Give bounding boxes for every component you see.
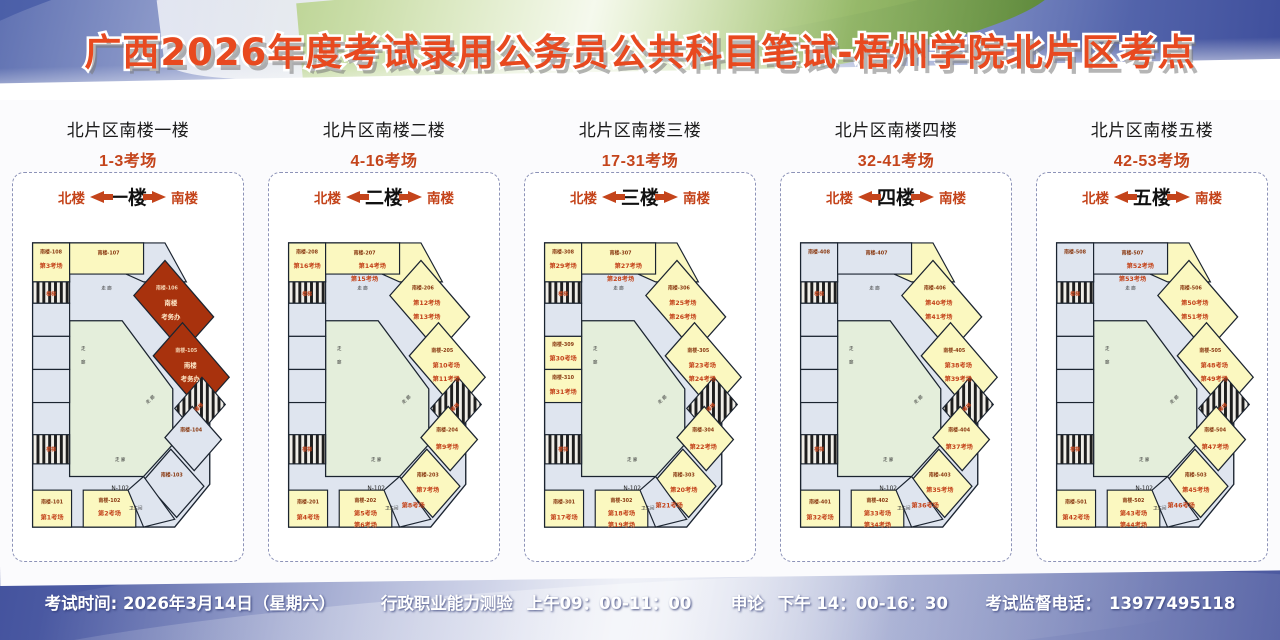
- svg-text:第6考场: 第6考场: [353, 521, 377, 529]
- floor-plan-box-4: 北楼 四楼 南楼 南楼-408楼梯楼梯走廊走 廊走 廊走 廊N-102卫生间南楼…: [780, 172, 1012, 562]
- svg-text:南楼-504: 南楼-504: [1204, 427, 1226, 434]
- svg-text:楼梯: 楼梯: [1070, 290, 1080, 297]
- svg-text:楼梯: 楼梯: [46, 290, 56, 297]
- south-building-label: 南楼: [427, 187, 454, 207]
- svg-text:南楼-201: 南楼-201: [297, 499, 319, 506]
- svg-text:南楼-506: 南楼-506: [1180, 285, 1202, 292]
- floor-plan-box-5: 北楼 五楼 南楼 南楼-508楼梯楼梯走廊走 廊走 廊走 廊N-102卫生间南楼…: [1036, 172, 1268, 562]
- svg-text:第34考场: 第34考场: [863, 521, 891, 529]
- arrow-left-icon: [858, 191, 872, 203]
- floor-plan-box-2: 北楼 二楼 南楼 南楼-208第16考场楼梯楼梯走廊走 廊走 廊走 廊N-102…: [268, 172, 500, 562]
- svg-text:第53考场: 第53考场: [1118, 275, 1146, 283]
- floor-plan-svg-1: 南楼-108第3考场楼梯楼梯走廊走 廊走 廊走 廊N-102卫生间南楼-101第…: [19, 217, 237, 555]
- svg-text:第19考场: 第19考场: [607, 521, 635, 529]
- floor-plan-box-1: 北楼 一楼 南楼 南楼-108第3考场楼梯楼梯走廊走 廊走 廊走 廊N-102卫…: [12, 172, 244, 562]
- direction-row-2: 北楼 二楼 南楼: [269, 183, 499, 210]
- svg-text:南楼-304: 南楼-304: [692, 427, 714, 434]
- svg-text:南楼-106: 南楼-106: [156, 285, 178, 292]
- svg-text:第43考场: 第43考场: [1119, 509, 1147, 517]
- svg-text:南楼-207: 南楼-207: [354, 250, 376, 257]
- footer-supervise-phone: 13977495118: [1109, 594, 1235, 613]
- footer-info: 考试时间: 2026年3月14日（星期六） 行政职业能力测验 上午09：00-1…: [0, 590, 1280, 614]
- floor-column-3: 北片区南楼三楼 17-31考场 北楼 三楼 南楼 南楼-308第29考场楼梯南楼…: [512, 104, 768, 566]
- arrow-right-icon: [408, 191, 422, 203]
- banner: 广西2026年度考试录用公务员公共科目笔试-梧州学院北片区考点: [0, 0, 1280, 100]
- floor-range-3: 17-31考场: [512, 147, 768, 171]
- svg-text:走 廊: 走 廊: [627, 456, 638, 463]
- svg-text:南楼-107: 南楼-107: [98, 250, 120, 257]
- svg-text:第7考场: 第7考场: [415, 486, 439, 494]
- svg-text:第32考场: 第32考场: [805, 513, 833, 521]
- floor-range-2: 4-16考场: [256, 147, 512, 171]
- floor-plan-svg-3: 南楼-308第29考场楼梯南楼-309第30考场南楼-310第31考场楼梯走廊走…: [531, 217, 749, 555]
- svg-text:走 廊: 走 廊: [101, 285, 112, 292]
- north-building-label: 北楼: [1082, 187, 1109, 207]
- svg-text:第39考场: 第39考场: [944, 375, 972, 383]
- floor-level-label-1: 一楼: [109, 183, 147, 210]
- svg-text:楼梯: 楼梯: [46, 446, 56, 453]
- svg-text:第27考场: 第27考场: [614, 262, 642, 270]
- arrow-left-icon: [346, 191, 360, 203]
- svg-text:第5考场: 第5考场: [353, 509, 377, 517]
- svg-text:走: 走: [849, 346, 854, 352]
- svg-text:第9考场: 第9考场: [435, 443, 459, 451]
- svg-text:楼梯: 楼梯: [814, 290, 824, 297]
- svg-text:走 廊: 走 廊: [115, 456, 126, 463]
- svg-text:廊: 廊: [849, 359, 854, 366]
- svg-text:走: 走: [1105, 346, 1110, 352]
- svg-text:廊: 廊: [593, 359, 598, 366]
- svg-text:南楼-302: 南楼-302: [611, 497, 633, 504]
- footer: 考试时间: 2026年3月14日（星期六） 行政职业能力测验 上午09：00-1…: [0, 566, 1280, 640]
- svg-text:南楼-204: 南楼-204: [436, 427, 458, 434]
- svg-text:走 廊: 走 廊: [883, 456, 894, 463]
- svg-text:南楼: 南楼: [164, 298, 177, 307]
- svg-text:第40考场: 第40考场: [924, 299, 952, 307]
- svg-text:南楼-507: 南楼-507: [1122, 250, 1144, 257]
- floor-range-5: 42-53考场: [1024, 147, 1280, 171]
- svg-text:第49考场: 第49考场: [1200, 375, 1228, 383]
- svg-text:南楼-301: 南楼-301: [553, 499, 575, 506]
- footer-supervise-label: 考试监督电话：: [986, 594, 1102, 613]
- svg-text:南楼-206: 南楼-206: [412, 285, 434, 292]
- svg-text:楼梯: 楼梯: [302, 290, 312, 297]
- svg-text:第47考场: 第47考场: [1201, 443, 1229, 451]
- svg-text:卫生间: 卫生间: [641, 505, 655, 512]
- svg-text:第12考场: 第12考场: [412, 299, 440, 307]
- arrow-right-icon: [920, 191, 934, 203]
- svg-text:南楼-501: 南楼-501: [1065, 499, 1087, 506]
- footer-time-2: 下午 14：00-16：30: [778, 594, 948, 613]
- svg-text:南楼-101: 南楼-101: [41, 499, 63, 506]
- svg-text:第8考场: 第8考场: [401, 502, 425, 510]
- svg-text:第28考场: 第28考场: [606, 275, 634, 283]
- svg-text:第17考场: 第17考场: [549, 513, 577, 521]
- svg-text:楼梯: 楼梯: [814, 446, 824, 453]
- floor-level-label-2: 二楼: [365, 183, 403, 210]
- north-building-label: 北楼: [826, 187, 853, 207]
- svg-text:廊: 廊: [1105, 359, 1110, 366]
- floor-title-1: 北片区南楼一楼: [0, 116, 256, 141]
- svg-text:第41考场: 第41考场: [924, 313, 952, 321]
- svg-text:南楼-403: 南楼-403: [929, 472, 951, 479]
- svg-text:廊: 廊: [81, 359, 86, 366]
- svg-text:N-102: N-102: [111, 486, 129, 492]
- floor-column-4: 北片区南楼四楼 32-41考场 北楼 四楼 南楼 南楼-408楼梯楼梯走廊走 廊…: [768, 104, 1024, 566]
- svg-text:第45考场: 第45考场: [1181, 486, 1209, 494]
- svg-text:南楼-401: 南楼-401: [809, 499, 831, 506]
- svg-text:南楼-104: 南楼-104: [180, 427, 202, 434]
- floor-column-1: 北片区南楼一楼 1-3考场 北楼 一楼 南楼 南楼-108第3考场楼梯楼梯走廊走…: [0, 104, 256, 566]
- svg-text:第20考场: 第20考场: [669, 486, 697, 494]
- svg-text:楼梯: 楼梯: [1070, 446, 1080, 453]
- floor-plan-svg-2: 南楼-208第16考场楼梯楼梯走廊走 廊走 廊走 廊N-102卫生间南楼-201…: [275, 217, 493, 555]
- floor-range-4: 32-41考场: [768, 147, 1024, 171]
- floor-level-label-4: 四楼: [877, 183, 915, 210]
- svg-text:N-102: N-102: [623, 486, 641, 492]
- page-title: 广西2026年度考试录用公务员公共科目笔试-梧州学院北片区考点: [0, 22, 1280, 76]
- floor-level-label-5: 五楼: [1133, 183, 1171, 210]
- svg-text:南楼-305: 南楼-305: [687, 347, 709, 354]
- south-building-label: 南楼: [683, 187, 710, 207]
- svg-text:南楼-508: 南楼-508: [1064, 249, 1086, 256]
- svg-text:第29考场: 第29考场: [548, 262, 576, 270]
- svg-text:楼梯: 楼梯: [558, 290, 568, 297]
- floor-title-4: 北片区南楼四楼: [768, 116, 1024, 141]
- svg-text:南楼-102: 南楼-102: [99, 497, 121, 504]
- svg-text:南楼-405: 南楼-405: [943, 347, 965, 354]
- svg-text:南楼-404: 南楼-404: [948, 427, 970, 434]
- south-building-label: 南楼: [171, 187, 198, 207]
- arrow-left-icon: [602, 191, 616, 203]
- svg-text:走: 走: [337, 346, 342, 352]
- footer-time-1: 上午09：00-11：00: [527, 594, 692, 613]
- svg-text:第26考场: 第26考场: [668, 313, 696, 321]
- svg-text:廊: 廊: [337, 359, 342, 366]
- svg-text:N-102: N-102: [367, 486, 385, 492]
- svg-text:南楼-309: 南楼-309: [552, 341, 574, 348]
- svg-text:南楼-203: 南楼-203: [417, 472, 439, 479]
- direction-row-4: 北楼 四楼 南楼: [781, 183, 1011, 210]
- svg-text:南楼-205: 南楼-205: [431, 347, 453, 354]
- svg-text:第30考场: 第30考场: [548, 355, 576, 363]
- svg-text:走 廊: 走 廊: [869, 285, 880, 292]
- svg-text:楼梯: 楼梯: [558, 446, 568, 453]
- direction-row-3: 北楼 三楼 南楼: [525, 183, 755, 210]
- svg-text:第36考场: 第36考场: [911, 502, 939, 510]
- svg-text:南楼: 南楼: [184, 361, 197, 370]
- direction-row-5: 北楼 五楼 南楼: [1037, 183, 1267, 210]
- svg-text:南楼-503: 南楼-503: [1185, 472, 1207, 479]
- floor-column-5: 北片区南楼五楼 42-53考场 北楼 五楼 南楼 南楼-508楼梯楼梯走廊走 廊…: [1024, 104, 1280, 566]
- svg-text:走 廊: 走 廊: [1139, 456, 1150, 463]
- svg-text:第11考场: 第11考场: [432, 375, 460, 383]
- north-building-label: 北楼: [58, 187, 85, 207]
- svg-text:南楼-108: 南楼-108: [40, 249, 62, 256]
- svg-text:第23考场: 第23考场: [688, 362, 716, 370]
- svg-text:南楼-310: 南楼-310: [552, 374, 574, 381]
- svg-text:第52考场: 第52考场: [1126, 262, 1154, 270]
- svg-text:南楼-402: 南楼-402: [867, 497, 889, 504]
- floor-range-1: 1-3考场: [0, 147, 256, 171]
- svg-text:第37考场: 第37考场: [945, 443, 973, 451]
- floor-plan-box-3: 北楼 三楼 南楼 南楼-308第29考场楼梯南楼-309第30考场南楼-310第…: [524, 172, 756, 562]
- svg-text:N-102: N-102: [1135, 486, 1153, 492]
- floor-title-2: 北片区南楼二楼: [256, 116, 512, 141]
- svg-text:南楼-208: 南楼-208: [296, 249, 318, 256]
- footer-exam-time: 考试时间: 2026年3月14日（星期六）: [45, 594, 336, 613]
- svg-text:考务办: 考务办: [161, 312, 181, 321]
- poster-page: 广西2026年度考试录用公务员公共科目笔试-梧州学院北片区考点 北片区南楼一楼 …: [0, 0, 1280, 640]
- svg-text:卫生间: 卫生间: [129, 505, 143, 512]
- floor-level-label-3: 三楼: [621, 183, 659, 210]
- svg-text:第22考场: 第22考场: [689, 443, 717, 451]
- north-building-label: 北楼: [314, 187, 341, 207]
- svg-text:走: 走: [593, 346, 598, 352]
- floor-plans-container: 北片区南楼一楼 1-3考场 北楼 一楼 南楼 南楼-108第3考场楼梯楼梯走廊走…: [0, 104, 1280, 566]
- svg-text:第31考场: 第31考场: [548, 388, 576, 396]
- svg-text:走 廊: 走 廊: [613, 285, 624, 292]
- svg-text:南楼-502: 南楼-502: [1123, 497, 1145, 504]
- svg-text:南楼-505: 南楼-505: [1199, 347, 1221, 354]
- svg-text:N-102: N-102: [879, 486, 897, 492]
- direction-row-1: 北楼 一楼 南楼: [13, 183, 243, 210]
- floor-title-5: 北片区南楼五楼: [1024, 116, 1280, 141]
- svg-text:卫生间: 卫生间: [1153, 505, 1167, 512]
- svg-text:第2考场: 第2考场: [97, 509, 121, 517]
- svg-text:第14考场: 第14考场: [358, 262, 386, 270]
- svg-text:第42考场: 第42考场: [1061, 513, 1089, 521]
- arrow-right-icon: [152, 191, 166, 203]
- svg-text:第38考场: 第38考场: [944, 362, 972, 370]
- svg-text:第46考场: 第46考场: [1167, 502, 1195, 510]
- svg-text:第25考场: 第25考场: [668, 299, 696, 307]
- svg-text:第4考场: 第4考场: [296, 513, 320, 521]
- svg-text:第1考场: 第1考场: [40, 513, 64, 521]
- svg-text:南楼-103: 南楼-103: [161, 472, 183, 479]
- svg-text:第48考场: 第48考场: [1200, 362, 1228, 370]
- svg-text:第18考场: 第18考场: [607, 509, 635, 517]
- svg-text:南楼-307: 南楼-307: [610, 250, 632, 257]
- svg-text:第33考场: 第33考场: [863, 509, 891, 517]
- svg-text:走 廊: 走 廊: [1125, 285, 1136, 292]
- svg-text:南楼-202: 南楼-202: [355, 497, 377, 504]
- south-building-label: 南楼: [939, 187, 966, 207]
- footer-subject-2: 申论: [731, 594, 764, 613]
- arrow-right-icon: [1176, 191, 1190, 203]
- arrow-left-icon: [90, 191, 104, 203]
- arrow-right-icon: [664, 191, 678, 203]
- svg-text:南楼-303: 南楼-303: [673, 472, 695, 479]
- floor-column-2: 北片区南楼二楼 4-16考场 北楼 二楼 南楼 南楼-208第16考场楼梯楼梯走…: [256, 104, 512, 566]
- south-building-label: 南楼: [1195, 187, 1222, 207]
- svg-text:走 廊: 走 廊: [371, 456, 382, 463]
- svg-text:南楼-408: 南楼-408: [808, 249, 830, 256]
- svg-text:卫生间: 卫生间: [897, 505, 911, 512]
- north-building-label: 北楼: [570, 187, 597, 207]
- svg-text:第16考场: 第16考场: [292, 262, 320, 270]
- svg-text:南楼-406: 南楼-406: [924, 285, 946, 292]
- svg-text:第44考场: 第44考场: [1119, 521, 1147, 529]
- svg-text:第24考场: 第24考场: [688, 375, 716, 383]
- svg-text:考务办: 考务办: [181, 374, 201, 383]
- svg-text:第10考场: 第10考场: [432, 362, 460, 370]
- svg-text:走 廊: 走 廊: [357, 285, 368, 292]
- footer-subject-1: 行政职业能力测验: [381, 594, 513, 613]
- svg-text:第35考场: 第35考场: [925, 486, 953, 494]
- floor-title-3: 北片区南楼三楼: [512, 116, 768, 141]
- svg-text:南楼-308: 南楼-308: [552, 249, 574, 256]
- svg-text:第13考场: 第13考场: [412, 313, 440, 321]
- svg-text:楼梯: 楼梯: [302, 446, 312, 453]
- svg-text:第21考场: 第21考场: [655, 502, 683, 510]
- arrow-left-icon: [1114, 191, 1128, 203]
- svg-text:第51考场: 第51考场: [1180, 313, 1208, 321]
- svg-text:卫生间: 卫生间: [385, 505, 399, 512]
- svg-text:南楼-306: 南楼-306: [668, 285, 690, 292]
- svg-text:第15考场: 第15考场: [350, 275, 378, 283]
- floor-plan-svg-4: 南楼-408楼梯楼梯走廊走 廊走 廊走 廊N-102卫生间南楼-401第32考场…: [787, 217, 1005, 555]
- svg-text:第50考场: 第50考场: [1180, 299, 1208, 307]
- floor-plan-svg-5: 南楼-508楼梯楼梯走廊走 廊走 廊走 廊N-102卫生间南楼-501第42考场…: [1043, 217, 1261, 555]
- svg-text:南楼-105: 南楼-105: [175, 347, 197, 354]
- svg-text:第3考场: 第3考场: [39, 262, 63, 270]
- svg-text:南楼-407: 南楼-407: [866, 250, 888, 257]
- svg-text:走: 走: [81, 346, 86, 352]
